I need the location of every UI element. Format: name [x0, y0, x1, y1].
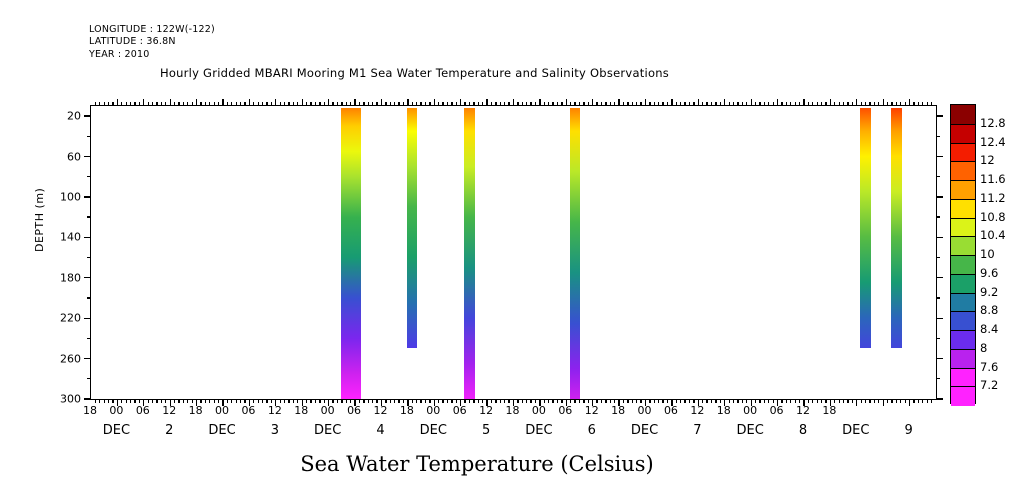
y-axis-tick	[87, 216, 91, 217]
y-axis-label: 260	[60, 352, 81, 365]
x-axis-tick-top	[222, 99, 223, 106]
x-axis-tick	[847, 399, 848, 403]
x-axis-tick	[99, 399, 100, 403]
y-axis-tick-right	[936, 338, 940, 339]
x-axis-tick	[535, 399, 536, 403]
x-axis-tick-top	[861, 102, 862, 106]
x-axis-tick	[372, 399, 373, 403]
x-axis-tick	[896, 399, 897, 403]
x-axis-tick-top	[227, 102, 228, 106]
y-axis-tick-right	[936, 136, 940, 137]
x-axis-tick-top	[561, 102, 562, 106]
x-axis-tick-top	[297, 102, 298, 106]
y-axis-tick	[87, 257, 91, 258]
x-axis-tick-top	[258, 102, 259, 106]
x-axis-hour-label: 18	[611, 404, 625, 417]
colorbar-label: 11.6	[980, 172, 1006, 186]
x-axis-tick-top	[773, 102, 774, 106]
colorbar-label: 12.8	[980, 116, 1006, 130]
x-axis-tick	[755, 399, 756, 403]
x-axis-tick	[482, 399, 483, 403]
x-axis-tick	[429, 399, 430, 403]
x-axis-tick-top	[913, 102, 914, 106]
x-axis-tick	[126, 399, 127, 403]
x-axis-tick-top	[768, 102, 769, 106]
x-axis-tick-top	[720, 102, 721, 106]
x-axis-tick-top	[513, 99, 514, 106]
x-axis-hour-label: 06	[453, 404, 467, 417]
x-axis-tick-top	[883, 99, 884, 106]
y-axis-tick	[84, 398, 91, 399]
x-axis-tick	[601, 399, 602, 403]
x-axis-tick-top	[112, 102, 113, 106]
x-axis-tick-top	[280, 102, 281, 106]
x-axis-tick-top	[764, 102, 765, 106]
y-axis-tick	[84, 115, 91, 116]
x-axis-hour-label: 00	[109, 404, 123, 417]
colorbar-separator	[951, 180, 975, 181]
y-axis-label: 300	[60, 393, 81, 406]
x-axis-tick-top	[570, 102, 571, 106]
x-axis-hour-label: 12	[585, 404, 599, 417]
temperature-profile-column	[860, 108, 871, 348]
colorbar-label: 8	[980, 341, 987, 355]
x-axis-tick	[178, 399, 179, 403]
x-axis-hour-label: 00	[743, 404, 757, 417]
colorbar-band	[951, 199, 975, 218]
colorbar-separator	[951, 293, 975, 294]
x-axis-tick-top	[900, 102, 901, 106]
x-axis-tick-top	[927, 102, 928, 106]
y-axis-label: 20	[67, 110, 81, 123]
x-axis-tick	[376, 399, 377, 403]
x-axis-tick-top	[337, 102, 338, 106]
x-axis-tick	[552, 399, 553, 403]
x-axis-tick	[148, 399, 149, 403]
x-axis-tick-top	[403, 102, 404, 106]
x-axis-tick-top	[196, 99, 197, 106]
x-axis-tick-top	[218, 102, 219, 106]
plot-area: 2060100140180220260300	[90, 105, 937, 400]
x-axis-tick-top	[394, 102, 395, 106]
x-axis-tick	[438, 399, 439, 403]
x-axis-tick-top	[231, 102, 232, 106]
x-axis-tick	[500, 399, 501, 403]
x-axis-tick-top	[324, 102, 325, 106]
x-axis-tick	[632, 399, 633, 403]
x-axis-tick-top	[931, 102, 932, 106]
x-axis-tick-top	[293, 102, 294, 106]
x-axis-tick-top	[328, 99, 329, 106]
x-axis-tick-top	[856, 99, 857, 106]
colorbar-label: 9.6	[980, 266, 998, 280]
x-axis-tick	[324, 399, 325, 403]
x-axis-tick-top	[438, 102, 439, 106]
x-axis-hour-label: 06	[241, 404, 255, 417]
x-axis-tick-top	[99, 102, 100, 106]
x-axis-tick	[240, 399, 241, 403]
x-axis-tick-top	[407, 99, 408, 106]
x-axis-day-label: DEC	[314, 423, 341, 438]
x-axis-tick	[174, 399, 175, 403]
x-axis-tick	[95, 399, 96, 403]
x-axis-tick-top	[170, 99, 171, 106]
y-axis-label: 180	[60, 271, 81, 284]
x-axis-tick-top	[253, 102, 254, 106]
x-axis-tick	[786, 399, 787, 403]
colorbar-band	[951, 105, 975, 124]
x-axis-tick-top	[706, 102, 707, 106]
x-axis-day-label: DEC	[737, 423, 764, 438]
y-axis-tick	[84, 237, 91, 238]
x-axis-hour-label: 18	[717, 404, 731, 417]
x-axis-tick-top	[95, 102, 96, 106]
x-axis-tick-top	[161, 102, 162, 106]
x-axis-hour-label: 00	[321, 404, 335, 417]
colorbar-separator	[951, 143, 975, 144]
x-axis-tick-top	[500, 102, 501, 106]
x-axis-tick-top	[825, 102, 826, 106]
x-axis-hour-label: 06	[136, 404, 150, 417]
colorbar-separator	[951, 236, 975, 237]
x-axis-tick	[596, 399, 597, 403]
x-axis-tick	[583, 399, 584, 403]
x-axis-tick	[874, 399, 875, 403]
x-axis-tick-top	[733, 102, 734, 106]
x-axis-tick	[385, 399, 386, 403]
chart-page: LONGITUDE : 122W(-122) LATITUDE : 36.8N …	[0, 0, 1009, 504]
x-axis-tick-top	[174, 102, 175, 106]
x-axis-tick	[447, 399, 448, 403]
x-axis-tick-top	[869, 102, 870, 106]
y-axis-tick-right	[936, 176, 940, 177]
x-axis-tick-top	[236, 102, 237, 106]
x-axis-tick	[271, 399, 272, 403]
x-axis-tick	[614, 399, 615, 403]
x-axis-tick	[548, 399, 549, 403]
x-axis-tick-top	[187, 102, 188, 106]
x-axis-tick-top	[434, 99, 435, 106]
x-axis-tick-top	[618, 99, 619, 106]
x-axis-tick-top	[412, 102, 413, 106]
x-axis-tick	[495, 399, 496, 403]
x-axis-tick	[649, 399, 650, 403]
x-axis-tick	[812, 399, 813, 403]
x-axis-tick-top	[262, 102, 263, 106]
colorbar-label: 9.2	[980, 285, 998, 299]
colorbar-band	[951, 255, 975, 274]
x-axis-tick-top	[759, 102, 760, 106]
x-axis-tick	[359, 399, 360, 403]
x-axis-tick-top	[596, 102, 597, 106]
x-axis-tick	[121, 399, 122, 403]
x-axis-tick	[280, 399, 281, 403]
x-axis-tick	[927, 399, 928, 403]
x-axis-tick-top	[574, 102, 575, 106]
x-axis-hour-label: 18	[83, 404, 97, 417]
x-axis-hour-label: 00	[638, 404, 652, 417]
x-axis-tick	[720, 399, 721, 403]
x-axis-tick-top	[148, 102, 149, 106]
x-axis-tick	[284, 399, 285, 403]
x-axis-tick-top	[922, 102, 923, 106]
x-axis-tick	[636, 399, 637, 403]
x-axis-day-label: 3	[271, 423, 279, 438]
colorbar-separator	[951, 218, 975, 219]
x-axis-tick-top	[605, 102, 606, 106]
x-axis-tick-top	[240, 102, 241, 106]
plot-canvas	[91, 106, 936, 399]
x-axis-tick	[200, 399, 201, 403]
x-axis-tick-top	[839, 102, 840, 106]
x-axis-tick-top	[896, 102, 897, 106]
x-axis-tick	[662, 399, 663, 403]
x-axis-tick-top	[108, 102, 109, 106]
longitude-text: LONGITUDE : 122W(-122)	[89, 24, 215, 36]
x-axis-tick-top	[891, 102, 892, 106]
temperature-profile-column	[407, 108, 417, 348]
x-axis-tick-top	[737, 102, 738, 106]
x-axis-tick-top	[544, 102, 545, 106]
x-axis-tick	[764, 399, 765, 403]
x-axis-hour-label: 12	[162, 404, 176, 417]
x-axis-tick-top	[698, 99, 699, 106]
x-axis-tick	[781, 399, 782, 403]
x-axis-tick-top	[376, 102, 377, 106]
x-axis-tick	[192, 399, 193, 403]
x-axis-tick-top	[680, 102, 681, 106]
x-axis-tick-top	[583, 102, 584, 106]
x-axis-tick-top	[566, 99, 567, 106]
x-axis-tick	[544, 399, 545, 403]
colorbar-band	[951, 330, 975, 349]
x-axis-tick	[733, 399, 734, 403]
colorbar-separator	[951, 161, 975, 162]
x-axis-tick	[693, 399, 694, 403]
x-axis-tick	[412, 399, 413, 403]
colorbar-label: 11.2	[980, 191, 1006, 205]
x-axis-tick	[768, 399, 769, 403]
colorbar-band	[951, 161, 975, 180]
x-axis-tick-top	[812, 102, 813, 106]
x-axis-tick	[504, 399, 505, 403]
x-axis-tick	[746, 399, 747, 403]
x-axis-tick	[319, 399, 320, 403]
x-axis-tick	[310, 399, 311, 403]
y-axis-tick-right	[936, 216, 940, 217]
x-axis-tick-top	[420, 102, 421, 106]
x-axis-day-label: 4	[376, 423, 384, 438]
x-axis-tick	[570, 399, 571, 403]
y-axis-tick-right	[936, 156, 943, 157]
x-axis-day-label: DEC	[525, 423, 552, 438]
x-axis-tick-top	[711, 102, 712, 106]
x-axis-tick-top	[315, 102, 316, 106]
y-axis-tick	[84, 318, 91, 319]
x-axis-hour-label: 18	[822, 404, 836, 417]
x-axis-tick-top	[302, 99, 303, 106]
x-axis-tick-top	[288, 102, 289, 106]
y-axis-tick-right	[936, 257, 940, 258]
x-axis-tick	[557, 399, 558, 403]
x-axis-tick-top	[134, 102, 135, 106]
colorbar-separator	[951, 255, 975, 256]
colorbar-separator	[951, 330, 975, 331]
colorbar-separator	[951, 199, 975, 200]
x-axis-tick-top	[645, 99, 646, 106]
x-axis-tick-top	[104, 102, 105, 106]
x-axis-tick	[394, 399, 395, 403]
x-axis-tick-top	[156, 102, 157, 106]
x-axis-tick-top	[442, 102, 443, 106]
x-axis-hour-label: 18	[400, 404, 414, 417]
y-axis-tick-right	[936, 297, 940, 298]
x-axis-tick-top	[742, 102, 743, 106]
x-axis-tick-top	[623, 102, 624, 106]
y-axis-tick	[84, 196, 91, 197]
colorbar-band	[951, 274, 975, 293]
y-axis-tick	[87, 136, 91, 137]
x-axis-tick-top	[486, 99, 487, 106]
y-axis-label: 100	[60, 190, 81, 203]
colorbar-band	[951, 180, 975, 199]
x-axis-tick-top	[557, 102, 558, 106]
x-axis-tick-top	[319, 102, 320, 106]
x-axis-tick-top	[121, 102, 122, 106]
x-axis-tick	[258, 399, 259, 403]
x-axis-tick-top	[183, 102, 184, 106]
x-axis-hour-label: 00	[532, 404, 546, 417]
x-axis-tick-top	[372, 102, 373, 106]
x-axis-tick	[759, 399, 760, 403]
x-axis-hour-label: 18	[506, 404, 520, 417]
colorbar	[950, 104, 976, 404]
x-axis-day-label: 9	[904, 423, 912, 438]
temperature-profile-column	[464, 108, 475, 399]
x-axis-tick	[861, 399, 862, 403]
x-axis-tick	[905, 399, 906, 403]
x-axis-tick-top	[751, 99, 752, 106]
x-axis-tick	[680, 399, 681, 403]
x-axis-tick-top	[178, 102, 179, 106]
y-axis-tick	[87, 338, 91, 339]
x-axis-tick	[843, 399, 844, 403]
x-axis-tick	[403, 399, 404, 403]
x-axis-tick-top	[385, 102, 386, 106]
x-axis-tick	[478, 399, 479, 403]
x-axis-tick-top	[874, 102, 875, 106]
x-axis-tick-top	[640, 102, 641, 106]
y-axis-tick-right	[936, 398, 943, 399]
x-axis-tick-top	[504, 102, 505, 106]
x-axis-tick	[112, 399, 113, 403]
x-axis-tick-top	[610, 102, 611, 106]
x-axis-tick	[799, 399, 800, 403]
x-axis-tick	[588, 399, 589, 403]
x-axis-tick-top	[200, 102, 201, 106]
x-axis-tick	[139, 399, 140, 403]
y-axis-tick-right	[936, 115, 943, 116]
x-axis-tick-top	[799, 102, 800, 106]
x-axis-tick-top	[447, 102, 448, 106]
x-axis-tick-top	[130, 102, 131, 106]
colorbar-label: 7.2	[980, 378, 998, 392]
x-axis-tick-top	[614, 102, 615, 106]
colorbar-label: 10.4	[980, 228, 1006, 242]
y-axis-tick-right	[936, 318, 943, 319]
x-axis-tick	[306, 399, 307, 403]
x-axis-tick-top	[530, 102, 531, 106]
x-axis-tick-top	[244, 102, 245, 106]
x-axis-day-label: 6	[588, 423, 596, 438]
metadata-block: LONGITUDE : 122W(-122) LATITUDE : 36.8N …	[89, 24, 215, 61]
x-axis-day-label: DEC	[631, 423, 658, 438]
x-axis-tick-top	[456, 102, 457, 106]
x-axis-tick	[205, 399, 206, 403]
x-axis-tick	[451, 399, 452, 403]
x-axis-tick-top	[852, 102, 853, 106]
x-axis-tick	[363, 399, 364, 403]
y-axis-tick-right	[936, 277, 943, 278]
x-axis-tick	[676, 399, 677, 403]
x-axis-tick	[337, 399, 338, 403]
x-axis-tick	[517, 399, 518, 403]
x-axis-tick	[574, 399, 575, 403]
x-axis-tick-top	[539, 99, 540, 106]
x-axis-tick-top	[284, 102, 285, 106]
x-axis-tick	[104, 399, 105, 403]
x-axis-tick	[702, 399, 703, 403]
x-axis-tick-top	[306, 102, 307, 106]
x-axis-tick-top	[491, 102, 492, 106]
x-axis-tick-top	[592, 99, 593, 106]
x-axis-tick-top	[346, 102, 347, 106]
x-axis-tick-top	[526, 102, 527, 106]
x-axis-day-label: 7	[693, 423, 701, 438]
colorbar-separator	[951, 311, 975, 312]
colorbar-label: 10.8	[980, 210, 1006, 224]
x-axis-tick	[711, 399, 712, 403]
x-axis-tick-top	[548, 102, 549, 106]
x-axis-hour-label: 00	[215, 404, 229, 417]
x-axis-tick	[684, 399, 685, 403]
x-axis-tick	[852, 399, 853, 403]
x-axis-tick	[236, 399, 237, 403]
x-axis-tick	[640, 399, 641, 403]
x-axis-tick-top	[460, 99, 461, 106]
y-axis-tick	[87, 297, 91, 298]
x-axis-tick	[253, 399, 254, 403]
x-axis-tick-top	[469, 102, 470, 106]
x-axis-tick-top	[152, 102, 153, 106]
x-axis-tick-top	[729, 102, 730, 106]
y-axis-tick-right	[936, 237, 943, 238]
x-axis-day-label: DEC	[420, 423, 447, 438]
x-axis-tick-top	[249, 99, 250, 106]
x-axis-hour-label: 12	[268, 404, 282, 417]
x-axis-tick-top	[777, 99, 778, 106]
x-axis-tick-top	[359, 102, 360, 106]
x-axis-tick	[834, 399, 835, 403]
x-axis-tick-top	[755, 102, 756, 106]
colorbar-separator	[951, 368, 975, 369]
x-axis-tick-top	[425, 102, 426, 106]
colorbar-separator	[951, 386, 975, 387]
x-axis-tick	[214, 399, 215, 403]
x-axis-tick	[773, 399, 774, 403]
y-axis-tick-right	[936, 196, 943, 197]
x-axis-day-label: DEC	[103, 423, 130, 438]
